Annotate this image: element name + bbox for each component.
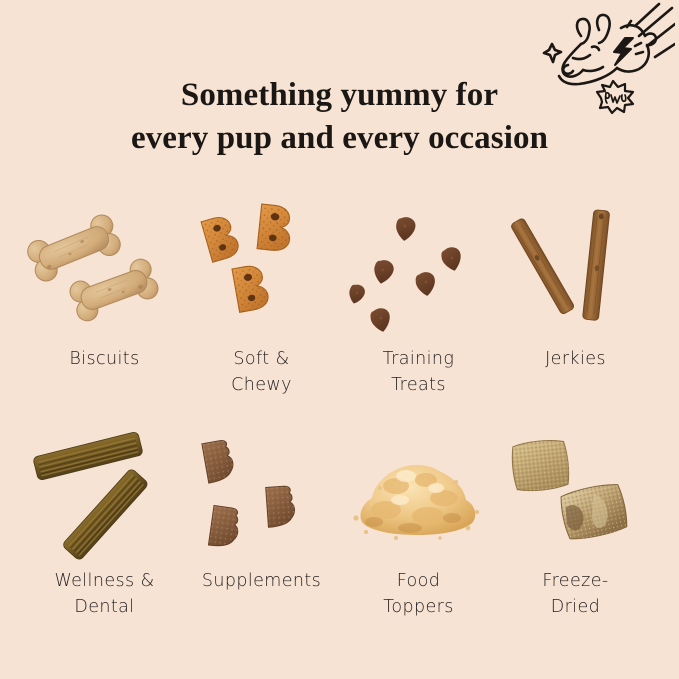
category-label: Training Treats — [383, 346, 455, 398]
category-soft-chewy[interactable]: Soft & Chewy — [183, 196, 340, 418]
category-grid: Biscuits — [26, 196, 654, 640]
category-food-toppers[interactable]: Food Toppers — [340, 418, 497, 640]
two-jerky-sticks-icon — [497, 196, 654, 344]
headline-line-1: Something yummy for — [0, 74, 679, 117]
powder-pile-icon — [340, 418, 497, 566]
category-biscuits[interactable]: Biscuits — [26, 196, 183, 418]
category-label: Biscuits — [69, 346, 139, 372]
two-ridged-dental-sticks-icon — [26, 418, 183, 566]
category-label: Food Toppers — [383, 568, 454, 620]
headline-line-2: every pup and every occasion — [0, 117, 679, 160]
category-label: Soft & Chewy — [231, 346, 292, 398]
category-label: Wellness & Dental — [54, 568, 154, 620]
category-wellness-dental[interactable]: Wellness & Dental — [26, 418, 183, 640]
category-label: Jerkies — [545, 346, 606, 372]
page-title: Something yummy for every pup and every … — [0, 74, 679, 160]
six-mini-training-bits-icon — [340, 196, 497, 344]
promo-graphic: Something yummy for every pup and every … — [0, 0, 679, 679]
category-freeze-dried[interactable]: Freeze- Dried — [497, 418, 654, 640]
category-training-treats[interactable]: Training Treats — [340, 196, 497, 418]
category-jerkies[interactable]: Jerkies — [497, 196, 654, 418]
two-bone-biscuits-icon — [26, 196, 183, 344]
three-b-shaped-chews-icon — [183, 196, 340, 344]
three-supplement-chews-icon — [183, 418, 340, 566]
category-supplements[interactable]: Supplements — [183, 418, 340, 640]
category-label: Supplements — [202, 568, 321, 594]
category-label: Freeze- Dried — [542, 568, 608, 620]
two-freeze-dried-squares-icon — [497, 418, 654, 566]
